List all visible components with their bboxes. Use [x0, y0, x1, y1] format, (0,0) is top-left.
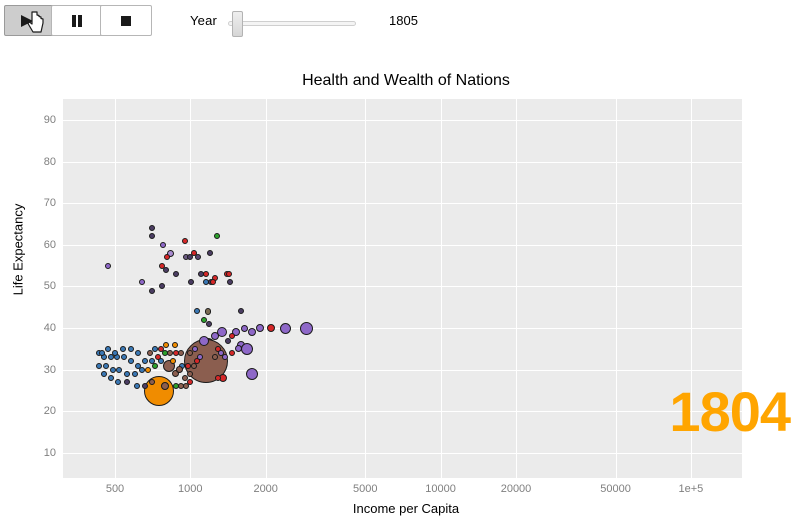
data-bubble[interactable] — [149, 379, 155, 385]
y-tick-label: 30 — [36, 364, 56, 376]
data-bubble[interactable] — [105, 263, 111, 269]
data-bubble[interactable] — [300, 322, 313, 335]
x-tick-label: 20000 — [501, 483, 532, 495]
data-bubble[interactable] — [226, 271, 232, 277]
play-icon — [19, 13, 41, 29]
data-bubble[interactable] — [163, 342, 169, 348]
y-tick-label: 50 — [36, 280, 56, 292]
chart-title: Health and Wealth of Nations — [0, 72, 812, 90]
year-slider-thumb[interactable] — [232, 11, 243, 37]
y-tick-label: 80 — [36, 156, 56, 168]
y-tick-label: 90 — [36, 114, 56, 126]
data-bubble[interactable] — [145, 367, 151, 373]
data-bubble[interactable] — [158, 346, 164, 352]
data-bubble[interactable] — [205, 308, 211, 314]
data-bubble[interactable] — [115, 379, 121, 385]
x-tick-label: 2000 — [253, 483, 277, 495]
data-bubble[interactable] — [225, 338, 231, 344]
data-bubble[interactable] — [238, 308, 244, 314]
data-bubble[interactable] — [178, 350, 184, 356]
data-bubble[interactable] — [105, 346, 111, 352]
scatter-plot-area[interactable] — [63, 99, 742, 478]
gridline-y-80 — [63, 162, 742, 163]
gridline-y-20 — [63, 411, 742, 412]
data-bubble[interactable] — [96, 363, 102, 369]
data-bubble[interactable] — [173, 271, 179, 277]
data-bubble[interactable] — [128, 358, 134, 364]
data-bubble[interactable] — [227, 279, 233, 285]
gridline-y-90 — [63, 120, 742, 121]
year-slider[interactable] — [228, 11, 356, 35]
year-slider-track[interactable] — [228, 21, 356, 26]
data-bubble[interactable] — [128, 346, 134, 352]
data-bubble[interactable] — [280, 323, 291, 334]
x-tick-label: 5000 — [353, 483, 377, 495]
data-bubble[interactable] — [132, 371, 138, 377]
data-bubble[interactable] — [197, 354, 203, 360]
data-bubble[interactable] — [267, 324, 275, 332]
data-bubble[interactable] — [192, 346, 198, 352]
data-bubble[interactable] — [101, 371, 107, 377]
data-bubble[interactable] — [149, 225, 155, 231]
data-bubble[interactable] — [164, 254, 170, 260]
data-bubble[interactable] — [248, 328, 256, 336]
pause-icon — [69, 13, 85, 29]
playback-toolbar: Year 1805 — [0, 0, 812, 46]
x-axis-label: Income per Capita — [0, 501, 812, 516]
year-slider-value: 1805 — [389, 13, 418, 28]
stop-button[interactable] — [100, 5, 152, 36]
stop-icon — [118, 13, 134, 29]
data-bubble[interactable] — [210, 279, 216, 285]
data-bubble[interactable] — [187, 379, 193, 385]
gridline-x-1000 — [190, 99, 191, 478]
data-bubble[interactable] — [163, 267, 169, 273]
gridline-x-10000 — [441, 99, 442, 478]
y-tick-label: 70 — [36, 197, 56, 209]
data-bubble[interactable] — [149, 233, 155, 239]
data-bubble[interactable] — [214, 233, 220, 239]
data-bubble[interactable] — [256, 324, 264, 332]
data-bubble[interactable] — [124, 371, 130, 377]
x-tick-label: 1000 — [178, 483, 202, 495]
data-bubble[interactable] — [147, 350, 153, 356]
data-bubble[interactable] — [160, 242, 166, 248]
gridline-x-500 — [115, 99, 116, 478]
y-axis-label: Life Expectancy — [11, 160, 26, 340]
data-bubble[interactable] — [182, 238, 188, 244]
data-bubble[interactable] — [170, 358, 176, 364]
data-bubble[interactable] — [142, 358, 148, 364]
data-bubble[interactable] — [246, 368, 258, 380]
data-bubble[interactable] — [199, 336, 209, 346]
data-bubble[interactable] — [241, 343, 253, 355]
gridline-y-40 — [63, 328, 742, 329]
x-tick-label: 50000 — [600, 483, 631, 495]
x-tick-label: 500 — [106, 483, 124, 495]
gridline-x-2000 — [266, 99, 267, 478]
data-bubble[interactable] — [229, 350, 235, 356]
data-bubble[interactable] — [215, 375, 221, 381]
data-bubble[interactable] — [203, 271, 209, 277]
x-tick-label: 10000 — [425, 483, 456, 495]
y-tick-label: 60 — [36, 239, 56, 251]
data-bubble[interactable] — [172, 342, 178, 348]
data-bubble[interactable] — [103, 363, 109, 369]
data-bubble[interactable] — [135, 350, 141, 356]
data-bubble[interactable] — [134, 383, 140, 389]
data-bubble[interactable] — [149, 288, 155, 294]
y-tick-label: 10 — [36, 447, 56, 459]
x-tick-label: 1e+5 — [679, 483, 704, 495]
gridline-x-20000 — [516, 99, 517, 478]
gridline-x-50000 — [616, 99, 617, 478]
data-bubble[interactable] — [207, 250, 213, 256]
data-bubble[interactable] — [217, 327, 227, 337]
data-bubble[interactable] — [108, 375, 114, 381]
data-bubble[interactable] — [139, 279, 145, 285]
gridline-x-5000 — [365, 99, 366, 478]
year-slider-label: Year — [190, 13, 217, 28]
data-bubble[interactable] — [176, 366, 183, 373]
play-button[interactable] — [4, 5, 56, 36]
pause-button[interactable] — [51, 5, 103, 36]
y-tick-label: 20 — [36, 405, 56, 417]
data-bubble[interactable] — [116, 367, 122, 373]
data-bubble[interactable] — [121, 354, 127, 360]
chart-container: Health and Wealth of Nations 1804 500100… — [0, 46, 812, 529]
data-bubble[interactable] — [110, 367, 116, 373]
data-bubble[interactable] — [212, 354, 218, 360]
gridline-y-70 — [63, 203, 742, 204]
gridline-y-10 — [63, 453, 742, 454]
data-bubble[interactable] — [124, 379, 130, 385]
data-bubble[interactable] — [159, 283, 165, 289]
year-annotation: 1804 — [669, 384, 790, 440]
y-tick-label: 40 — [36, 322, 56, 334]
data-bubble[interactable] — [139, 367, 145, 373]
data-bubble[interactable] — [195, 254, 201, 260]
data-bubble[interactable] — [188, 279, 194, 285]
data-bubble[interactable] — [206, 321, 212, 327]
data-bubble[interactable] — [194, 308, 200, 314]
data-bubble[interactable] — [120, 346, 126, 352]
data-bubble[interactable] — [152, 363, 158, 369]
data-bubble[interactable] — [167, 350, 173, 356]
